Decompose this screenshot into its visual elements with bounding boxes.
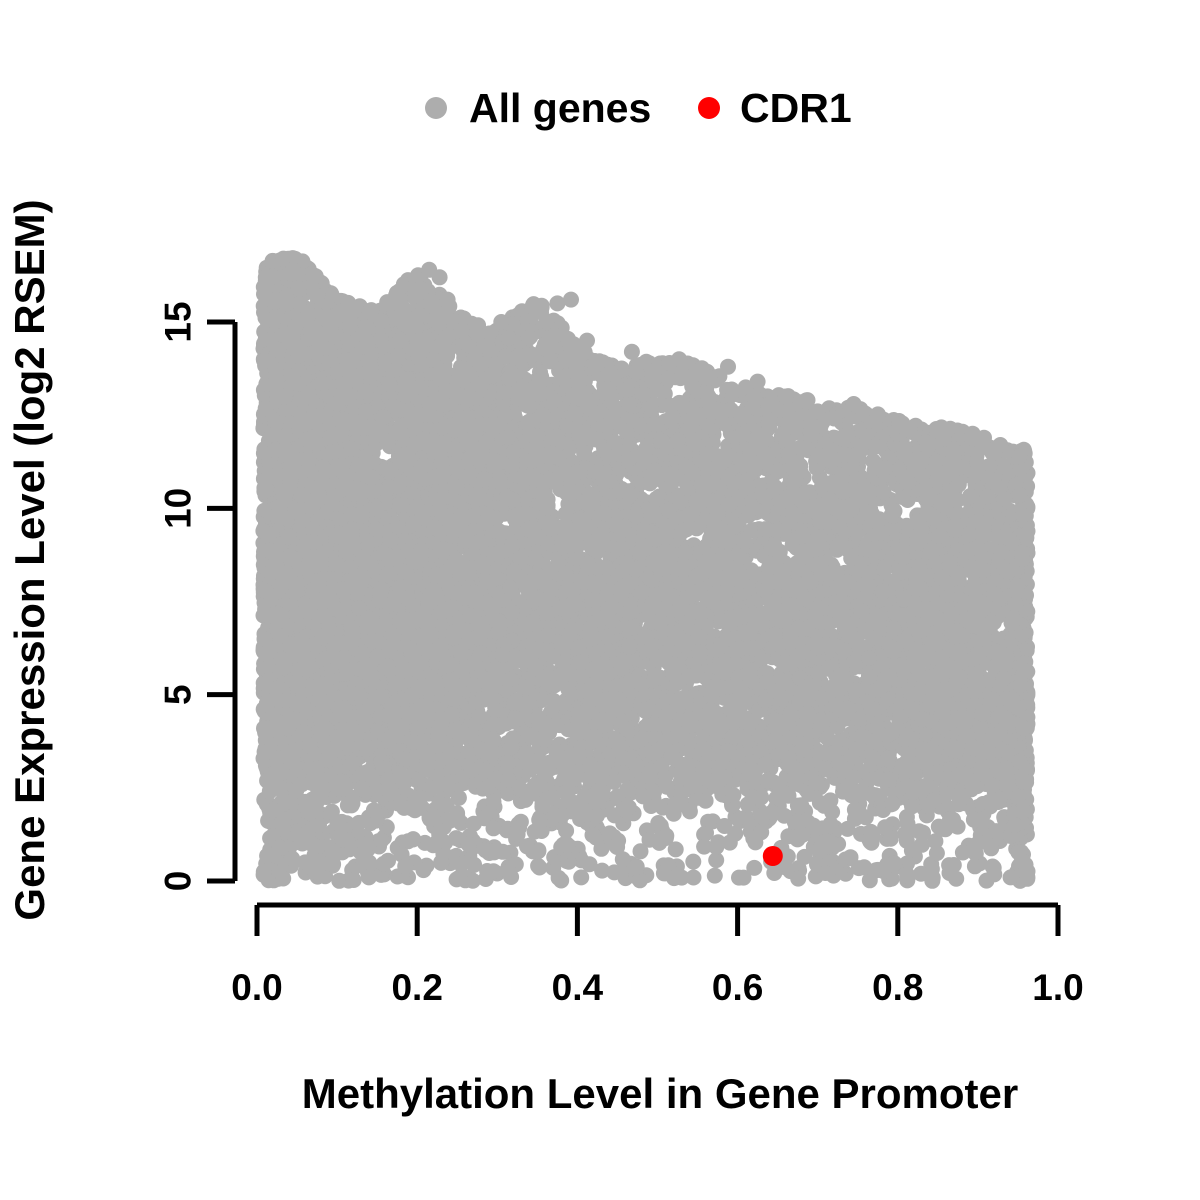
data-point [707,868,723,884]
chart-canvas: 0510150.00.20.40.60.81.0 All genesCDR1 M… [0,0,1200,1200]
scatter-plot-figure: 0510150.00.20.40.60.81.0 All genesCDR1 M… [0,0,1200,1200]
data-point [573,869,589,885]
data-point [633,843,649,859]
